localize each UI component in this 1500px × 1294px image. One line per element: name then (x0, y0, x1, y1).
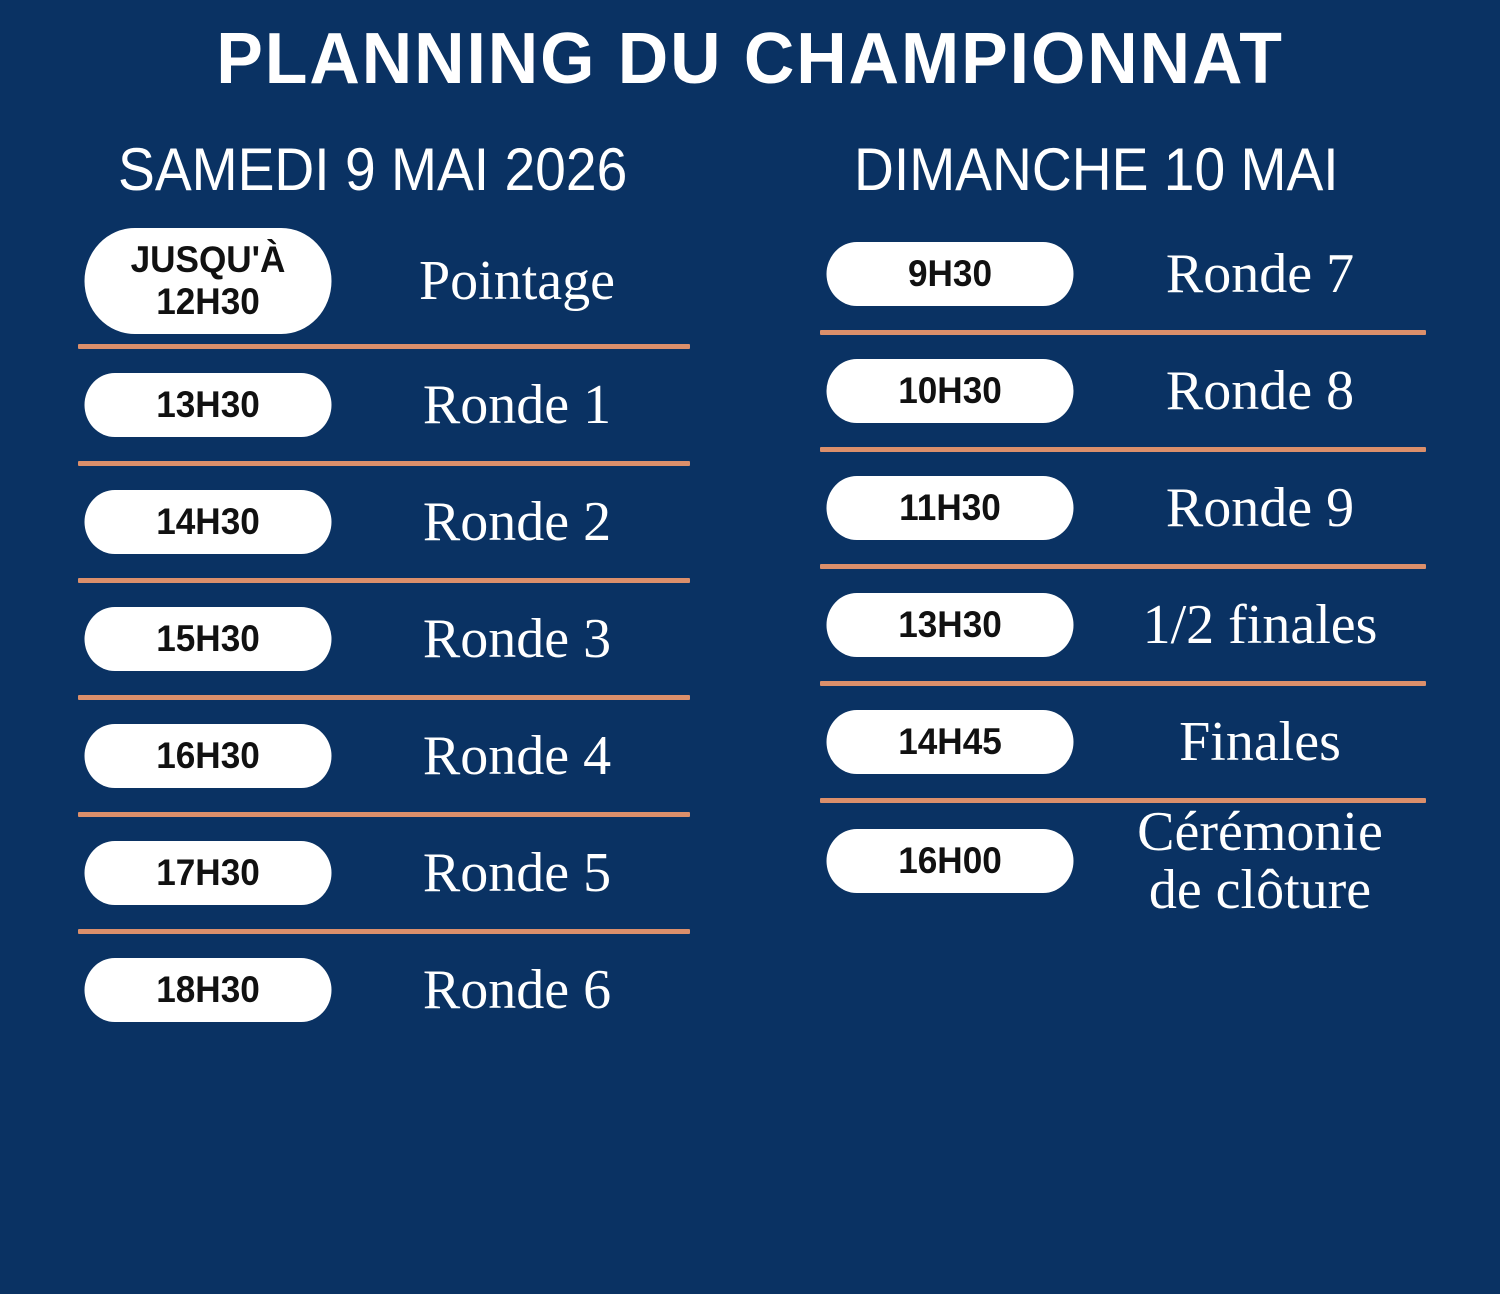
event-label: Ronde 8 (1080, 362, 1426, 420)
time-pill[interactable]: 13H30 (827, 593, 1074, 657)
time-pill[interactable]: 10H30 (827, 359, 1074, 423)
event-label: Ronde 2 (338, 493, 690, 551)
day-heading-sunday: DIMANCHE 10 MAI (854, 140, 1380, 200)
schedule-row-inner: 18H30Ronde 6 (78, 934, 690, 1046)
time-pill-line: 17H30 (98, 852, 318, 894)
schedule-row: 18H30Ronde 6 (78, 934, 690, 1046)
event-label: Ronde 1 (338, 376, 690, 434)
time-pill-line: 18H30 (98, 969, 318, 1011)
time-pill-line: 13H30 (840, 604, 1060, 646)
schedule-column-saturday: SAMEDI 9 MAI 2026 JUSQU'À12H30Pointage13… (78, 140, 690, 1051)
schedule-row: 14H45Finales (820, 686, 1426, 798)
schedule-rows-sunday: 9H30Ronde 710H30Ronde 811H30Ronde 913H30… (820, 218, 1426, 924)
time-pill[interactable]: 18H30 (85, 958, 332, 1022)
event-label: 1/2 finales (1080, 596, 1426, 654)
schedule-row: JUSQU'À12H30Pointage (78, 218, 690, 344)
time-pill[interactable]: 14H30 (85, 490, 332, 554)
schedule-row-inner: 14H45Finales (820, 686, 1426, 798)
event-label: Ronde 5 (338, 844, 690, 902)
schedule-row-inner: 11H30Ronde 9 (820, 452, 1426, 564)
schedule-row-inner: 16H30Ronde 4 (78, 700, 690, 812)
day-heading-saturday: SAMEDI 9 MAI 2026 (118, 140, 644, 200)
event-label: Ronde 7 (1080, 245, 1426, 303)
schedule-row: 17H30Ronde 5 (78, 817, 690, 929)
time-pill-line: 14H45 (840, 721, 1060, 763)
time-pill-line: 11H30 (840, 487, 1060, 529)
schedule-row: 13H30Ronde 1 (78, 349, 690, 461)
event-label: Cérémonie de clôture (1080, 803, 1426, 919)
schedule-row: 16H00Cérémonie de clôture (820, 803, 1426, 919)
time-pill[interactable]: 14H45 (827, 710, 1074, 774)
time-pill[interactable]: JUSQU'À12H30 (85, 228, 332, 334)
page-title: PLANNING DU CHAMPIONNAT (23, 22, 1478, 98)
event-label: Finales (1080, 713, 1426, 771)
schedule-row: 14H30Ronde 2 (78, 466, 690, 578)
event-label: Ronde 6 (338, 961, 690, 1019)
schedule-rows-saturday: JUSQU'À12H30Pointage13H30Ronde 114H30Ron… (78, 218, 690, 1051)
time-pill-line: 14H30 (98, 501, 318, 543)
time-pill[interactable]: 11H30 (827, 476, 1074, 540)
schedule-row-inner: 16H00Cérémonie de clôture (820, 803, 1426, 919)
time-pill[interactable]: 17H30 (85, 841, 332, 905)
time-pill[interactable]: 9H30 (827, 242, 1074, 306)
schedule-row-inner: 10H30Ronde 8 (820, 335, 1426, 447)
schedule-row-inner: 13H30Ronde 1 (78, 349, 690, 461)
time-pill[interactable]: 16H30 (85, 724, 332, 788)
time-pill-line: 16H30 (98, 735, 318, 777)
schedule-row-inner: 17H30Ronde 5 (78, 817, 690, 929)
schedule-row: 11H30Ronde 9 (820, 452, 1426, 564)
time-pill[interactable]: 15H30 (85, 607, 332, 671)
time-pill-line: 9H30 (840, 253, 1060, 295)
time-pill[interactable]: 13H30 (85, 373, 332, 437)
time-pill-line: 12H30 (98, 281, 318, 323)
time-pill[interactable]: 16H00 (827, 829, 1074, 893)
schedule-row: 9H30Ronde 7 (820, 218, 1426, 330)
event-label: Ronde 9 (1080, 479, 1426, 537)
time-pill-line: 10H30 (840, 370, 1060, 412)
event-label: Ronde 3 (338, 610, 690, 668)
schedule-row: 13H301/2 finales (820, 569, 1426, 681)
schedule-row: 10H30Ronde 8 (820, 335, 1426, 447)
event-label: Pointage (338, 252, 690, 310)
time-pill-line: JUSQU'À (98, 239, 318, 281)
time-pill-line: 13H30 (98, 384, 318, 426)
schedule-row: 15H30Ronde 3 (78, 583, 690, 695)
schedule-row-inner: 15H30Ronde 3 (78, 583, 690, 695)
schedule-column-sunday: DIMANCHE 10 MAI 9H30Ronde 710H30Ronde 81… (820, 140, 1426, 924)
schedule-row-inner: 13H301/2 finales (820, 569, 1426, 681)
time-pill-line: 15H30 (98, 618, 318, 660)
schedule-poster: PLANNING DU CHAMPIONNAT SAMEDI 9 MAI 202… (0, 0, 1500, 1294)
schedule-row-inner: JUSQU'À12H30Pointage (78, 218, 690, 344)
schedule-row-inner: 9H30Ronde 7 (820, 218, 1426, 330)
schedule-row-inner: 14H30Ronde 2 (78, 466, 690, 578)
event-label: Ronde 4 (338, 727, 690, 785)
schedule-row: 16H30Ronde 4 (78, 700, 690, 812)
time-pill-line: 16H00 (840, 840, 1060, 882)
